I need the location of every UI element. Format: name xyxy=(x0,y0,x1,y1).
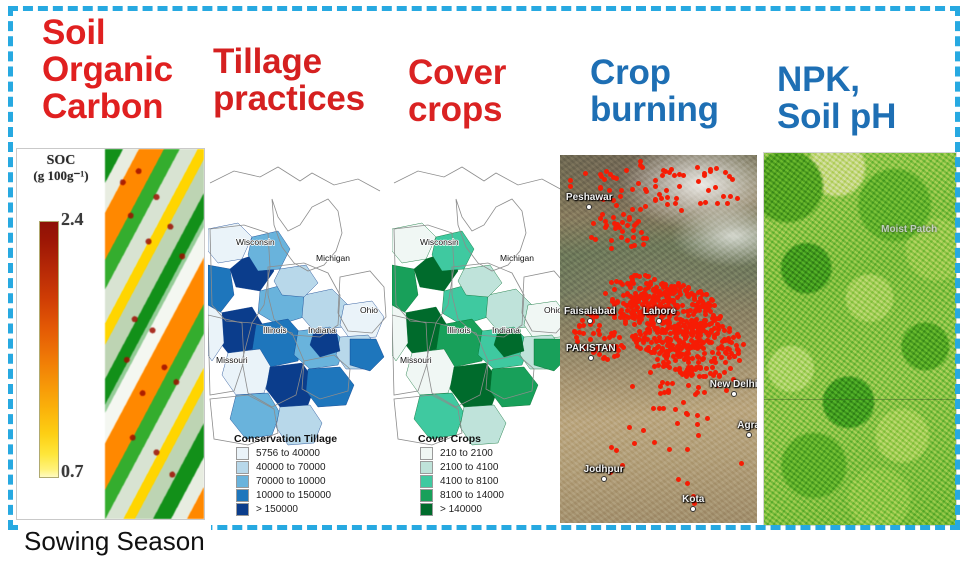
choropleth-region xyxy=(392,305,408,361)
fire-hotspot xyxy=(665,202,670,207)
fire-hotspot xyxy=(624,168,629,173)
fire-hotspot xyxy=(735,196,740,201)
state-label: Michigan xyxy=(500,253,534,263)
fire-hotspot xyxy=(640,165,645,170)
fire-hotspot xyxy=(677,325,682,330)
fire-hotspot xyxy=(723,360,728,365)
fire-hotspot xyxy=(626,282,631,287)
fire-hotspot xyxy=(641,428,646,433)
fire-hotspot xyxy=(712,303,717,308)
choropleth-region xyxy=(350,339,384,371)
legend-label: 8100 to 14000 xyxy=(440,490,504,501)
fire-hotspot xyxy=(653,197,658,202)
fire-hotspot xyxy=(630,334,635,339)
legend-label: 70000 to 10000 xyxy=(256,476,326,487)
city-marker-dot xyxy=(731,391,737,397)
fire-hotspot xyxy=(720,324,725,329)
fire-hotspot xyxy=(717,316,722,321)
legend-label: 5756 to 40000 xyxy=(256,448,320,459)
fire-hotspot xyxy=(674,196,679,201)
fire-hotspot xyxy=(621,312,626,317)
fire-hotspot xyxy=(659,196,664,201)
fire-hotspot xyxy=(614,448,619,453)
fire-hotspot xyxy=(685,412,690,417)
fire-hotspot xyxy=(686,294,691,299)
state-label: Michigan xyxy=(316,253,350,263)
fire-hotspot xyxy=(719,344,724,349)
fire-hotspot xyxy=(634,221,639,226)
fire-hotspot xyxy=(591,221,596,226)
fire-hotspot xyxy=(676,477,681,482)
fire-hotspot xyxy=(651,406,656,411)
fire-hotspot xyxy=(719,355,724,360)
choropleth-region xyxy=(490,367,538,407)
fire-hotspot xyxy=(652,350,657,355)
legend-label: 40000 to 70000 xyxy=(256,462,326,473)
fire-hotspot xyxy=(673,358,678,363)
header-tillage-practices: Tillage practices xyxy=(213,43,365,117)
fire-hotspot xyxy=(609,246,614,251)
fire-hotspot xyxy=(714,166,719,171)
fire-hotspot xyxy=(631,235,636,240)
fire-hotspot xyxy=(695,165,700,170)
fire-hotspot xyxy=(729,340,734,345)
fire-hotspot xyxy=(710,365,715,370)
fire-hotspot xyxy=(695,422,700,427)
fire-hotspot xyxy=(713,185,718,190)
panel-tillage-practices: WisconsinMichiganIllinoisIndianaOhioMiss… xyxy=(208,155,388,523)
legend-row: 5756 to 40000 xyxy=(236,447,384,460)
fire-hotspot xyxy=(687,322,692,327)
header-soil-organic-carbon: Soil Organic Carbon xyxy=(42,14,173,125)
legend-row: 40000 to 70000 xyxy=(236,461,384,474)
fire-hotspot xyxy=(651,287,656,292)
legend-label: > 140000 xyxy=(440,504,482,515)
state-label: Wisconsin xyxy=(236,237,275,247)
fire-hotspot xyxy=(712,333,717,338)
fire-hotspot xyxy=(581,331,586,336)
city-label: Kota xyxy=(682,494,704,512)
city-label: Jodhpur xyxy=(584,464,624,482)
fire-hotspot xyxy=(690,333,695,338)
fire-hotspot xyxy=(715,201,720,206)
legend-swatch xyxy=(420,503,433,516)
fire-hotspot xyxy=(698,338,703,343)
fire-hotspot xyxy=(696,179,701,184)
city-label: PAKISTAN xyxy=(566,343,616,361)
fire-hotspot xyxy=(638,286,643,291)
fire-hotspot xyxy=(614,203,619,208)
fire-hotspot xyxy=(645,337,650,342)
fire-hotspot xyxy=(737,358,742,363)
fire-hotspot xyxy=(643,204,648,209)
fire-hotspot xyxy=(621,212,626,217)
state-label: Illinois xyxy=(447,325,471,335)
fire-hotspot xyxy=(638,346,643,351)
fire-hotspot xyxy=(615,353,620,358)
fire-hotspot xyxy=(648,370,653,375)
fire-hotspot xyxy=(604,223,609,228)
fire-hotspot xyxy=(632,441,637,446)
fire-hotspot xyxy=(632,243,637,248)
fire-hotspot xyxy=(621,293,626,298)
city-label: Agra xyxy=(737,420,757,438)
fire-hotspot xyxy=(667,447,672,452)
legend-swatch xyxy=(420,447,433,460)
fire-hotspot xyxy=(739,461,744,466)
fire-hotspot xyxy=(631,228,636,233)
fire-hotspot xyxy=(701,328,706,333)
legend-row: 210 to 2100 xyxy=(420,447,568,460)
fire-hotspot xyxy=(705,416,710,421)
fire-hotspot xyxy=(722,370,727,375)
fire-hotspot xyxy=(711,373,716,378)
fire-hotspot xyxy=(728,366,733,371)
legend-swatch xyxy=(236,489,249,502)
fire-hotspot xyxy=(612,330,617,335)
fire-hotspot xyxy=(709,329,714,334)
fire-hotspot xyxy=(698,344,703,349)
fire-hotspot xyxy=(644,189,649,194)
fire-hotspot xyxy=(681,400,686,405)
fire-hotspot xyxy=(703,200,708,205)
state-label: Missouri xyxy=(216,355,248,365)
legend-label: 210 to 2100 xyxy=(440,448,493,459)
soc-colorbar-legend: SOC (g 100g⁻¹) 2.4 0.7 xyxy=(17,149,105,519)
fire-hotspot xyxy=(673,287,678,292)
fire-hotspot xyxy=(667,291,672,296)
fire-hotspot xyxy=(588,337,593,342)
city-label: Faisalabad xyxy=(564,306,616,324)
fire-hotspot xyxy=(614,279,619,284)
fire-hotspot xyxy=(658,384,663,389)
legend-swatch xyxy=(236,475,249,488)
city-label: Lahore xyxy=(643,306,676,324)
header-cover-crops: Cover crops xyxy=(408,54,506,128)
fire-hotspot xyxy=(703,374,708,379)
fire-hotspot xyxy=(627,425,632,430)
panel-npk-soil-ph-field: Moist Patch xyxy=(763,152,957,526)
fire-hotspot xyxy=(652,440,657,445)
fire-hotspot xyxy=(630,315,635,320)
fire-hotspot xyxy=(712,356,717,361)
fire-hotspot xyxy=(728,194,733,199)
fire-hotspot xyxy=(669,298,674,303)
fire-hotspot xyxy=(703,312,708,317)
soc-colorbar-max-label: 2.4 xyxy=(61,209,84,230)
fire-hotspot xyxy=(706,307,711,312)
field-tag-label: Moist Patch xyxy=(881,224,937,236)
fire-hotspot xyxy=(688,308,693,313)
fire-hotspot xyxy=(568,178,573,183)
panel-cover-crops: WisconsinMichiganIllinoisIndianaOhioMiss… xyxy=(392,155,572,523)
fire-hotspot xyxy=(612,287,617,292)
city-marker-dot xyxy=(746,432,752,438)
fire-hotspot xyxy=(677,184,682,189)
tillage-choropleth-map: WisconsinMichiganIllinoisIndianaOhioMiss… xyxy=(208,155,388,455)
fire-hotspot xyxy=(679,208,684,213)
city-name: Agra xyxy=(737,420,757,431)
fire-hotspot xyxy=(693,340,698,345)
fire-hotspot xyxy=(672,173,677,178)
fire-hotspot xyxy=(695,413,700,418)
city-name: Kota xyxy=(682,494,704,505)
panel-crop-burning-satellite: PeshawarFaisalabadLahorePAKISTANNew Delh… xyxy=(560,155,757,523)
fire-hotspot xyxy=(655,357,660,362)
legend-swatch xyxy=(236,503,249,516)
legend-label: > 150000 xyxy=(256,504,298,515)
fire-hotspot xyxy=(665,195,670,200)
fire-hotspot xyxy=(655,328,660,333)
legend-label: 2100 to 4100 xyxy=(440,462,498,473)
fire-hotspot xyxy=(703,322,708,327)
fire-hotspot xyxy=(702,351,707,356)
state-label: Wisconsin xyxy=(420,237,459,247)
fire-hotspot xyxy=(685,447,690,452)
legend-row: 2100 to 4100 xyxy=(420,461,568,474)
tillage-legend: Conservation Tillage 5756 to 4000040000 … xyxy=(216,433,384,517)
fire-hotspot xyxy=(630,275,635,280)
city-label: Peshawar xyxy=(566,192,613,210)
fire-hotspot xyxy=(686,313,691,318)
fire-hotspot xyxy=(611,215,616,220)
fire-hotspot xyxy=(741,342,746,347)
fire-hotspot xyxy=(643,273,648,278)
fire-hotspot xyxy=(618,194,623,199)
soc-field-parcel-image xyxy=(105,149,204,519)
sowing-season-caption: Sowing Season xyxy=(18,524,211,559)
city-marker-dot xyxy=(587,318,593,324)
fire-hotspot xyxy=(625,223,630,228)
fire-hotspot xyxy=(609,238,614,243)
field-boundary-line xyxy=(764,399,956,400)
state-label: Indiana xyxy=(308,325,336,335)
fire-hotspot xyxy=(643,287,648,292)
fire-hotspot xyxy=(583,171,588,176)
fire-hotspot xyxy=(598,216,603,221)
legend-swatch xyxy=(420,461,433,474)
fire-hotspot xyxy=(682,329,687,334)
fire-hotspot xyxy=(686,383,691,388)
legend-row: 70000 to 10000 xyxy=(236,475,384,488)
city-marker-dot xyxy=(588,355,594,361)
legend-row: 10000 to 150000 xyxy=(236,489,384,502)
soc-legend-title: SOC (g 100g⁻¹) xyxy=(19,153,103,184)
tillage-legend-title: Conservation Tillage xyxy=(234,433,384,445)
legend-swatch xyxy=(420,489,433,502)
soc-colorbar-min-label: 0.7 xyxy=(61,461,84,482)
choropleth-region xyxy=(306,367,354,407)
soc-legend-title-text: SOC xyxy=(47,153,76,168)
fire-hotspot xyxy=(669,167,674,172)
fire-hotspot xyxy=(644,236,649,241)
state-label: Illinois xyxy=(263,325,287,335)
fire-hotspot xyxy=(723,170,728,175)
fire-hotspot xyxy=(619,235,624,240)
state-label: Missouri xyxy=(400,355,432,365)
fire-hotspot xyxy=(602,336,607,341)
fire-hotspot xyxy=(604,169,609,174)
fire-hotspot xyxy=(725,201,730,206)
fire-hotspot xyxy=(630,207,635,212)
fire-hotspot xyxy=(678,344,683,349)
header-npk-soil-ph: NPK, Soil pH xyxy=(777,61,896,135)
city-name: Peshawar xyxy=(566,192,613,203)
fire-hotspot xyxy=(695,390,700,395)
fire-hotspot xyxy=(573,330,578,335)
legend-row: > 150000 xyxy=(236,503,384,516)
fire-hotspot xyxy=(670,381,675,386)
fire-hotspot xyxy=(636,181,641,186)
fire-hotspot xyxy=(630,384,635,389)
legend-swatch xyxy=(420,475,433,488)
fire-hotspot xyxy=(641,242,646,247)
legend-row: > 140000 xyxy=(420,503,568,516)
legend-label: 4100 to 8100 xyxy=(440,476,498,487)
fire-hotspot xyxy=(680,303,685,308)
city-marker-dot xyxy=(656,318,662,324)
state-label: Ohio xyxy=(360,305,378,315)
fire-hotspot xyxy=(698,201,703,206)
city-name: Faisalabad xyxy=(564,306,616,317)
fire-hotspot xyxy=(619,188,624,193)
fire-hotspot xyxy=(630,187,635,192)
fire-hotspot xyxy=(702,390,707,395)
fire-hotspot xyxy=(568,184,573,189)
legend-row: 4100 to 8100 xyxy=(420,475,568,488)
fire-hotspot xyxy=(675,421,680,426)
fire-hotspot xyxy=(685,481,690,486)
fire-hotspot xyxy=(653,184,658,189)
city-name: Jodhpur xyxy=(584,464,624,475)
fire-hotspot xyxy=(609,445,614,450)
city-marker-dot xyxy=(601,476,607,482)
city-marker-dot xyxy=(690,506,696,512)
fire-hotspot xyxy=(661,364,666,369)
fire-hotspot xyxy=(620,229,625,234)
fire-hotspot xyxy=(698,289,703,294)
legend-swatch xyxy=(236,461,249,474)
fire-hotspot xyxy=(653,178,658,183)
fire-hotspot xyxy=(603,291,608,296)
fire-hotspot xyxy=(697,308,702,313)
fire-hotspot xyxy=(591,331,596,336)
cover-crops-choropleth-map: WisconsinMichiganIllinoisIndianaOhioMiss… xyxy=(392,155,572,455)
fire-hotspot xyxy=(620,282,625,287)
state-label: Indiana xyxy=(492,325,520,335)
fire-hotspot xyxy=(685,346,690,351)
fire-hotspot xyxy=(625,238,630,243)
choropleth-region xyxy=(208,305,224,361)
fire-hotspot xyxy=(673,407,678,412)
header-crop-burning: Crop burning xyxy=(590,54,719,128)
fire-hotspot xyxy=(735,332,740,337)
fire-hotspot xyxy=(607,335,612,340)
city-label: New Delhi xyxy=(710,379,757,397)
fire-hotspot xyxy=(706,188,711,193)
fire-hotspot xyxy=(629,310,634,315)
panel-soil-organic-carbon: SOC (g 100g⁻¹) 2.4 0.7 xyxy=(16,148,205,520)
fire-hotspot xyxy=(620,220,625,225)
fire-hotspot xyxy=(708,169,713,174)
fire-hotspot xyxy=(696,433,701,438)
fire-hotspot xyxy=(736,351,741,356)
fire-hotspot xyxy=(694,365,699,370)
fire-hotspot xyxy=(621,345,626,350)
cover-crops-legend-title: Cover Crops xyxy=(418,433,568,445)
fire-hotspot xyxy=(730,177,735,182)
fire-hotspot xyxy=(686,285,691,290)
legend-swatch xyxy=(236,447,249,460)
field-texture-overlay xyxy=(764,153,956,525)
fire-hotspot xyxy=(664,188,669,193)
fire-hotspot xyxy=(617,335,622,340)
city-name: PAKISTAN xyxy=(566,343,616,354)
fire-hotspot xyxy=(639,230,644,235)
legend-label: 10000 to 150000 xyxy=(256,490,331,501)
soc-colorbar-gradient xyxy=(39,221,59,478)
city-name: New Delhi xyxy=(710,379,757,390)
fire-hotspot xyxy=(637,329,642,334)
cover-crops-legend: Cover Crops 210 to 21002100 to 41004100 … xyxy=(400,433,568,517)
fire-hotspot xyxy=(656,363,661,368)
fire-hotspot xyxy=(593,237,598,242)
city-name: Lahore xyxy=(643,306,676,317)
fire-hotspot xyxy=(702,173,707,178)
fire-hotspot xyxy=(598,185,603,190)
fire-hotspot xyxy=(673,201,678,206)
legend-row: 8100 to 14000 xyxy=(420,489,568,502)
fire-hotspot xyxy=(621,301,626,306)
fire-hotspot xyxy=(710,350,715,355)
fire-hotspot xyxy=(637,274,642,279)
soc-legend-units: (g 100g⁻¹) xyxy=(19,169,103,184)
fire-hotspot xyxy=(721,194,726,199)
fire-hotspot xyxy=(635,299,640,304)
city-marker-dot xyxy=(586,204,592,210)
fire-hotspot xyxy=(630,302,635,307)
fire-hotspot xyxy=(709,297,714,302)
fire-hotspot xyxy=(675,295,680,300)
